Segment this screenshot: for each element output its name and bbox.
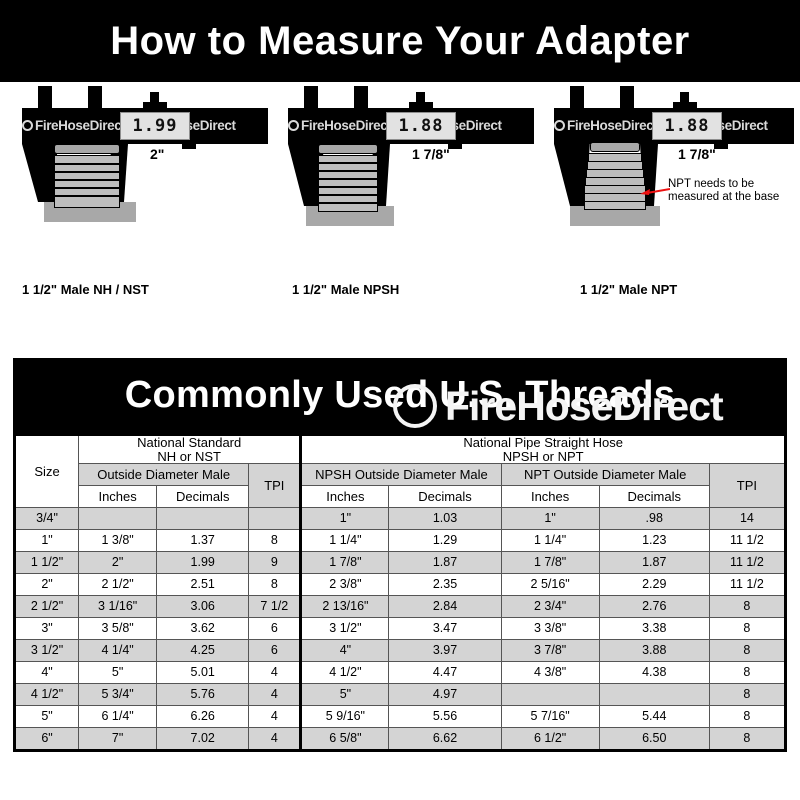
fraction-label: 2" [150,146,164,162]
cell-nh-decimals: 6.26 [157,706,249,728]
group-header-nh: National Standard NH or NST [79,435,301,464]
cell-npsh-inches: 1 1/4" [301,530,389,552]
caliper-reading: 1.99 [133,116,178,136]
table-title: Commonly Used U.S. Threads [125,374,675,417]
cell-npsh-inches: 2 13/16" [301,596,389,618]
table-body: 3/4"1"1.031".98141"1 3/8"1.3781 1/4"1.29… [15,508,786,751]
flame-icon [288,120,299,131]
table-row: 3"3 5/8"3.6263 1/2"3.473 3/8"3.388 [15,618,786,640]
cell-size: 4" [15,662,79,684]
threads-table-section: Commonly Used U.S. Threads Size National… [13,358,787,752]
cell-nh-decimals: 5.01 [157,662,249,684]
cell-npt-decimals: 6.50 [599,728,709,751]
cell-np-tpi: 8 [709,618,785,640]
cell-nh-inches: 3 5/8" [79,618,157,640]
cell-nh-inches: 6 1/4" [79,706,157,728]
cell-nh-tpi: 8 [249,530,301,552]
col-header-nh-inches: Inches [79,486,157,508]
cell-size: 3" [15,618,79,640]
watermark-label: FireHoseDirect [35,118,125,133]
col-header-npt-od: NPT Outside Diameter Male [501,464,709,486]
table-row: 2 1/2"3 1/16"3.067 1/22 13/16"2.842 3/4"… [15,596,786,618]
cell-nh-decimals: 1.99 [157,552,249,574]
cell-npt-inches: 2 3/4" [501,596,599,618]
cell-npt-inches: 6 1/2" [501,728,599,751]
header-row-subgroups: Outside Diameter Male TPI NPSH Outside D… [15,464,786,486]
cell-nh-tpi: 6 [249,618,301,640]
cell-nh-decimals: 3.06 [157,596,249,618]
page-title: How to Measure Your Adapter [110,19,690,64]
cell-np-tpi: 11 1/2 [709,530,785,552]
table-row: 4"5"5.0144 1/2"4.474 3/8"4.388 [15,662,786,684]
cell-npt-inches: 1" [501,508,599,530]
cell-npsh-decimals: 4.97 [389,684,501,706]
cell-nh-tpi: 7 1/2 [249,596,301,618]
cell-npt-decimals: 1.23 [599,530,709,552]
cell-size: 1" [15,530,79,552]
cell-npsh-inches: 1 7/8" [301,552,389,574]
caliper-lcd-display: 1.99 [120,112,190,140]
cell-npt-inches: 1 1/4" [501,530,599,552]
cell-np-tpi: 8 [709,728,785,751]
cell-npt-decimals: 4.38 [599,662,709,684]
cell-npsh-decimals: 5.56 [389,706,501,728]
npt-note-line-1: NPT needs to be [668,178,779,191]
cell-nh-inches: 2 1/2" [79,574,157,596]
table-row: 3 1/2"4 1/4"4.2564"3.973 7/8"3.888 [15,640,786,662]
col-header-nh-od: Outside Diameter Male [79,464,249,486]
cell-size: 2 1/2" [15,596,79,618]
cell-nh-decimals: 7.02 [157,728,249,751]
cell-nh-inches: 2" [79,552,157,574]
cell-nh-tpi: 4 [249,662,301,684]
cell-npt-decimals: 2.76 [599,596,709,618]
cell-npt-inches: 1 7/8" [501,552,599,574]
caliper-diagram-npt: FireHoseDirect FireHoseDirect 1.88 1 7/8… [528,82,794,352]
threaded-fitting-tapered [584,142,646,210]
group-header-np-line1: National Pipe Straight Hose [302,436,784,450]
flame-icon [22,120,33,131]
cell-npsh-inches: 3 1/2" [301,618,389,640]
cell-np-tpi: 8 [709,706,785,728]
group-header-nh-line1: National Standard [79,436,299,450]
cell-npsh-inches: 1" [301,508,389,530]
page-header-banner: How to Measure Your Adapter [0,0,800,82]
cell-npt-inches: 3 7/8" [501,640,599,662]
col-header-npsh-inches: Inches [301,486,389,508]
cell-npsh-inches: 6 5/8" [301,728,389,751]
cell-npsh-inches: 4 1/2" [301,662,389,684]
cell-nh-tpi [249,508,301,530]
cell-nh-tpi: 4 [249,684,301,706]
table-row: 1"1 3/8"1.3781 1/4"1.291 1/4"1.2311 1/2 [15,530,786,552]
cell-np-tpi: 11 1/2 [709,574,785,596]
cell-np-tpi: 8 [709,662,785,684]
cell-nh-inches: 5 3/4" [79,684,157,706]
col-header-npsh-od: NPSH Outside Diameter Male [301,464,501,486]
cell-npsh-decimals: 3.47 [389,618,501,640]
cell-npt-inches: 2 5/16" [501,574,599,596]
group-header-nh-line2: NH or NST [79,450,299,464]
table-title-bar: Commonly Used U.S. Threads [13,358,787,433]
flame-icon [554,120,565,131]
cell-nh-decimals [157,508,249,530]
cell-npt-inches: 4 3/8" [501,662,599,684]
cell-nh-decimals: 1.37 [157,530,249,552]
npt-note-line-2: measured at the base [668,191,779,204]
cell-size: 1 1/2" [15,552,79,574]
cell-nh-decimals: 5.76 [157,684,249,706]
caliper-reading: 1.88 [399,116,444,136]
table-row: 4 1/2"5 3/4"5.7645"4.978 [15,684,786,706]
cell-npsh-decimals: 1.87 [389,552,501,574]
caliper-diagram-nh-nst: FireHoseDirect FireHoseDirect 1.99 2" 1 … [2,82,268,352]
threaded-fitting [318,144,378,210]
cell-np-tpi: 8 [709,640,785,662]
cell-npsh-decimals: 6.62 [389,728,501,751]
cell-npsh-decimals: 2.35 [389,574,501,596]
cell-size: 4 1/2" [15,684,79,706]
cell-npt-inches: 5 7/16" [501,706,599,728]
cell-npt-inches [501,684,599,706]
cell-nh-decimals: 3.62 [157,618,249,640]
watermark-label: FireHoseDirect [301,118,391,133]
table-row: 2"2 1/2"2.5182 3/8"2.352 5/16"2.2911 1/2 [15,574,786,596]
caliper-caption: 1 1/2" Male NPT [528,282,794,297]
caliper-lcd-display: 1.88 [652,112,722,140]
cell-nh-inches: 5" [79,662,157,684]
table-row: 6"7"7.0246 5/8"6.626 1/2"6.508 [15,728,786,751]
cell-npt-decimals: .98 [599,508,709,530]
cell-npsh-inches: 2 3/8" [301,574,389,596]
cell-size: 5" [15,706,79,728]
cell-npt-decimals: 3.88 [599,640,709,662]
cell-npsh-inches: 5 9/16" [301,706,389,728]
col-header-npt-inches: Inches [501,486,599,508]
table-row: 3/4"1"1.031".9814 [15,508,786,530]
cell-nh-inches [79,508,157,530]
caliper-caption: 1 1/2" Male NH / NST [2,282,268,297]
cell-nh-tpi: 6 [249,640,301,662]
cell-npt-decimals: 2.29 [599,574,709,596]
us-threads-table: Size National Standard NH or NST Nationa… [13,433,787,752]
cell-nh-inches: 7" [79,728,157,751]
cell-nh-tpi: 4 [249,728,301,751]
threaded-fitting [54,144,120,206]
col-header-size: Size [15,435,79,508]
cell-npt-decimals: 3.38 [599,618,709,640]
cell-nh-inches: 1 3/8" [79,530,157,552]
cell-nh-inches: 4 1/4" [79,640,157,662]
cell-nh-decimals: 4.25 [157,640,249,662]
npt-note-arrow-icon [640,186,670,196]
col-header-nh-decimals: Decimals [157,486,249,508]
watermark-label: FireHoseDirect [567,118,657,133]
cell-size: 6" [15,728,79,751]
table-head: Size National Standard NH or NST Nationa… [15,435,786,508]
cell-np-tpi: 8 [709,684,785,706]
cell-npsh-decimals: 1.03 [389,508,501,530]
cell-size: 2" [15,574,79,596]
caliper-diagram-npsh: FireHoseDirect FireHoseDirect 1.88 1 7/8… [268,82,534,352]
col-header-npt-decimals: Decimals [599,486,709,508]
header-row-units: Inches Decimals Inches Decimals Inches D… [15,486,786,508]
table-row: 1 1/2"2"1.9991 7/8"1.871 7/8"1.8711 1/2 [15,552,786,574]
cell-npsh-decimals: 2.84 [389,596,501,618]
caliper-lcd-display: 1.88 [386,112,456,140]
cell-npt-decimals: 1.87 [599,552,709,574]
table-row: 5"6 1/4"6.2645 9/16"5.565 7/16"5.448 [15,706,786,728]
caliper-caption: 1 1/2" Male NPSH [268,282,534,297]
cell-npt-inches: 3 3/8" [501,618,599,640]
group-header-np: National Pipe Straight Hose NPSH or NPT [301,435,786,464]
cell-nh-tpi: 9 [249,552,301,574]
fraction-label: 1 7/8" [412,146,450,162]
group-header-np-line2: NPSH or NPT [302,450,784,464]
cell-npsh-decimals: 3.97 [389,640,501,662]
cell-npsh-inches: 5" [301,684,389,706]
caliper-reading: 1.88 [665,116,710,136]
col-header-npsh-decimals: Decimals [389,486,501,508]
header-row-groups: Size National Standard NH or NST Nationa… [15,435,786,464]
cell-nh-decimals: 2.51 [157,574,249,596]
cell-npt-decimals: 5.44 [599,706,709,728]
cell-npsh-inches: 4" [301,640,389,662]
npt-measurement-note: NPT needs to be measured at the base [668,178,779,204]
cell-size: 3/4" [15,508,79,530]
fraction-label: 1 7/8" [678,146,716,162]
col-header-nh-tpi: TPI [249,464,301,508]
cell-nh-tpi: 8 [249,574,301,596]
cell-np-tpi: 11 1/2 [709,552,785,574]
cell-size: 3 1/2" [15,640,79,662]
cell-npt-decimals [599,684,709,706]
cell-np-tpi: 14 [709,508,785,530]
col-header-np-tpi: TPI [709,464,785,508]
measurement-diagrams-section: FireHoseDirect FireHoseDirect 1.99 2" 1 … [0,82,800,352]
cell-nh-tpi: 4 [249,706,301,728]
cell-nh-inches: 3 1/16" [79,596,157,618]
cell-npsh-decimals: 1.29 [389,530,501,552]
cell-np-tpi: 8 [709,596,785,618]
cell-npsh-decimals: 4.47 [389,662,501,684]
